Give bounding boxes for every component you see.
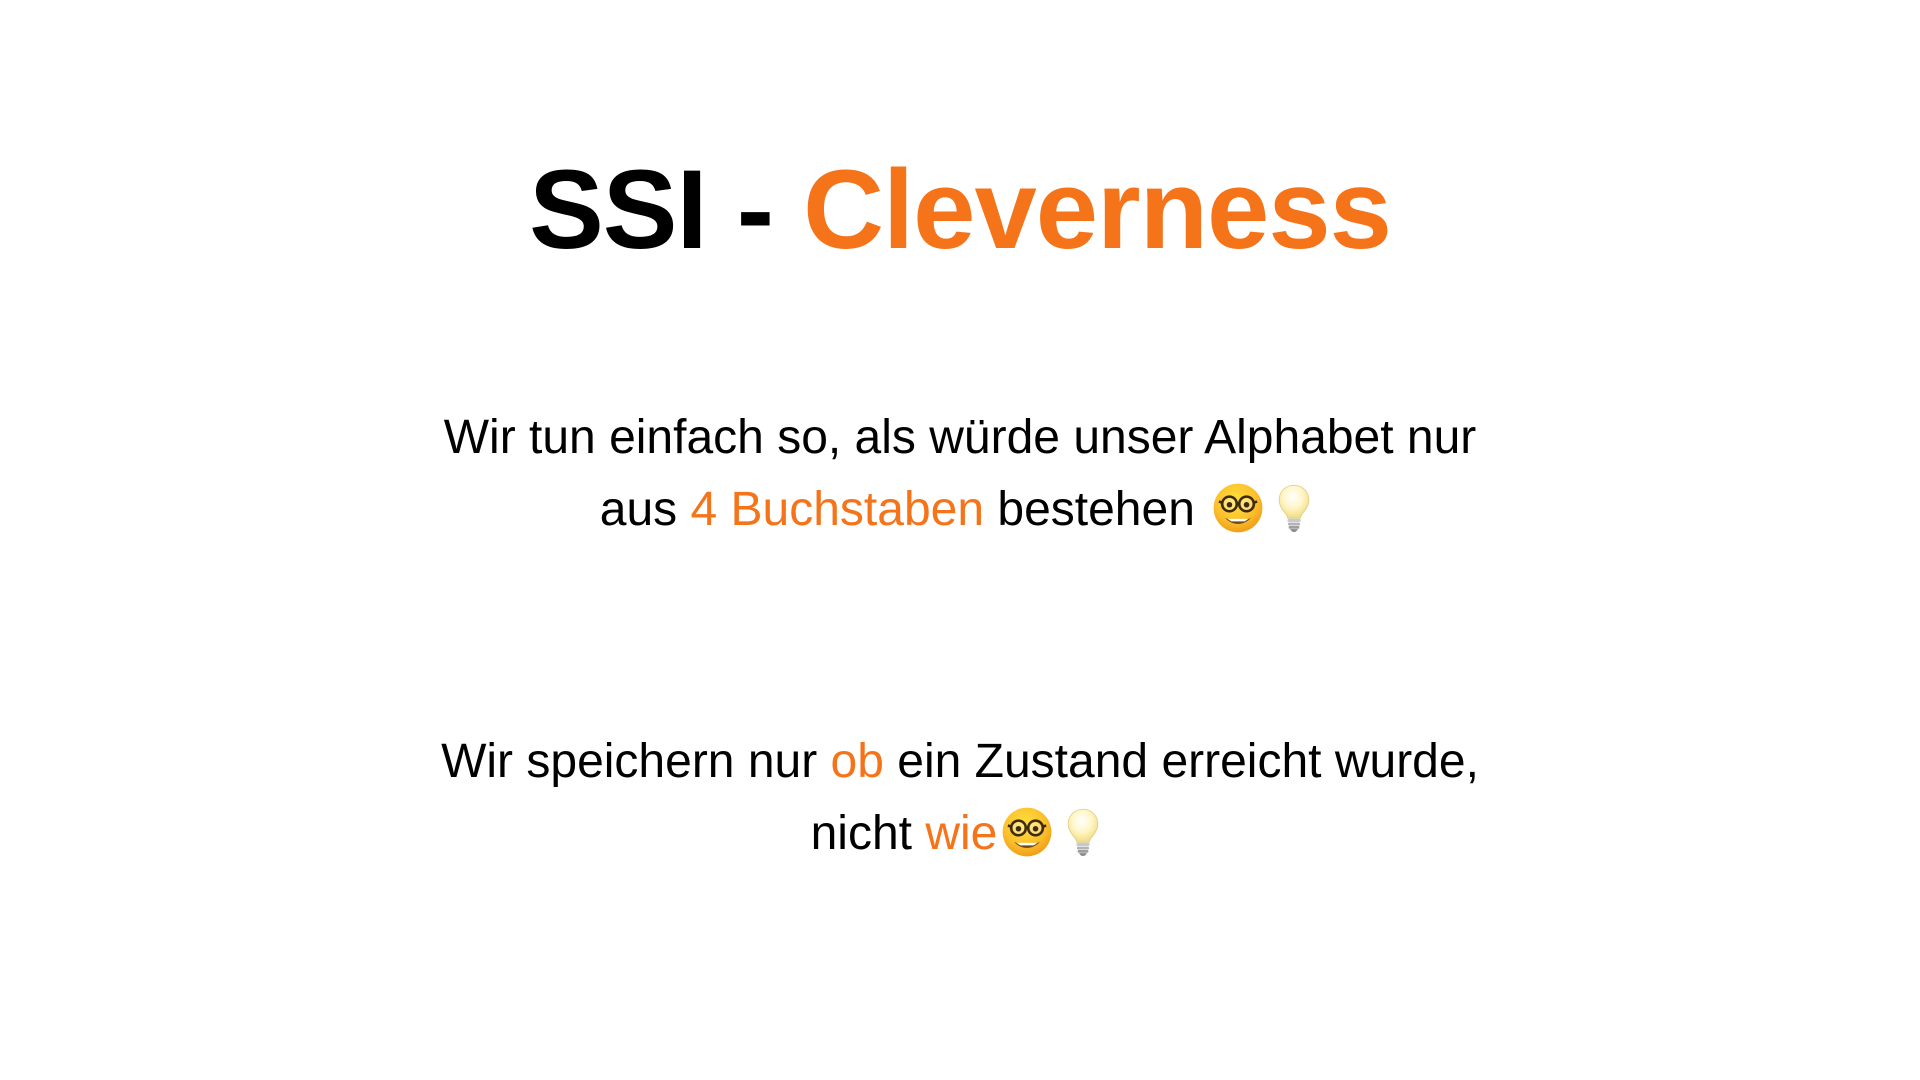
text-segment: ein Zustand erreicht wurde, [884, 735, 1479, 788]
slide-title: SSI - Cleverness [0, 147, 1920, 272]
text-segment: Wir tun einfach so, als würde unser Alph… [444, 411, 1477, 464]
light-bulb-emoji [1057, 806, 1109, 858]
slide-title-accent: Cleverness [803, 147, 1391, 272]
accent-text-segment: 4 Buchstaben [690, 483, 984, 536]
body-line: aus 4 Buchstaben bestehen [0, 474, 1920, 546]
nerd-face-emoji [1212, 482, 1264, 534]
slide-title-main: SSI - [529, 147, 803, 272]
accent-text-segment: ob [831, 735, 884, 788]
body-line: nicht wie [0, 798, 1920, 870]
body-block-zustand: Wir speichern nur ob ein Zustand erreich… [0, 726, 1920, 870]
text-segment: Wir speichern nur [441, 735, 830, 788]
body-line: Wir speichern nur ob ein Zustand erreich… [0, 726, 1920, 798]
body-block-alphabet: Wir tun einfach so, als würde unser Alph… [0, 402, 1920, 546]
text-segment: bestehen [984, 483, 1208, 536]
body-line: Wir tun einfach so, als würde unser Alph… [0, 402, 1920, 474]
accent-text-segment: wie [925, 807, 997, 860]
text-segment: aus [600, 483, 691, 536]
light-bulb-emoji [1268, 482, 1320, 534]
text-segment: nicht [811, 807, 926, 860]
presentation-slide: SSI - Cleverness Wir tun einfach so, als… [0, 0, 1920, 1080]
nerd-face-emoji [1001, 806, 1053, 858]
